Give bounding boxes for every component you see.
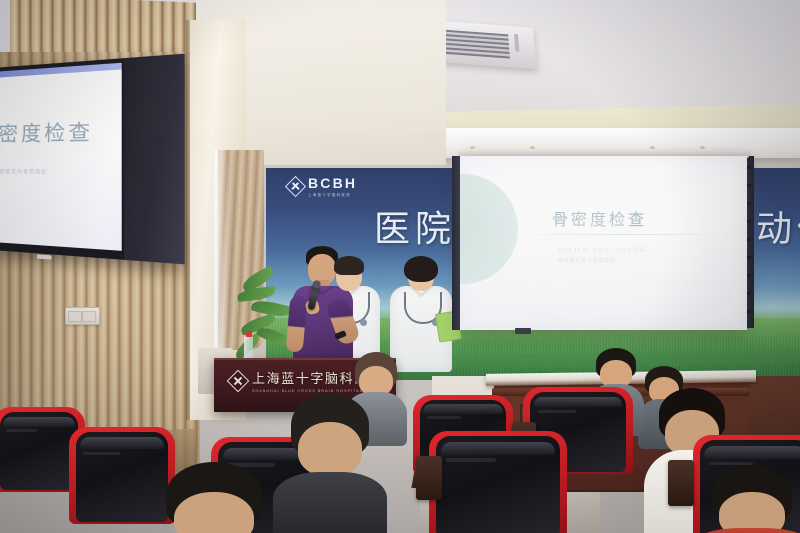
bcbh-logo: BCBH 上海蓝十字脑科医院: [288, 176, 357, 197]
projection-screen: 骨密度检查 2016.11.21 主讲人：XXXX 医师 骨密度检查与骨质疏松: [460, 156, 747, 330]
auditorium-seat[interactable]: [0, 412, 78, 490]
auditorium-seat[interactable]: [436, 436, 560, 533]
bcbh-logo-text: BCBH: [308, 176, 357, 190]
slide-subtitle-line1: 2016.11.21 主讲人：XXXX 医师: [558, 247, 645, 257]
banner-headline-left: 医院: [374, 200, 456, 252]
wall-monitor[interactable]: 骨密度检查 骨密度检查与骨质疏松: [0, 54, 185, 265]
monitor-screen: 骨密度检查 骨密度检查与骨质疏松: [0, 63, 122, 251]
seat-armrest: [416, 456, 442, 500]
monitor-slide-title: 骨密度检查: [0, 115, 93, 148]
seat-armrest: [668, 460, 694, 506]
cross-diamond-icon: [285, 176, 306, 197]
audience-person: [150, 462, 278, 533]
blue-cross-icon: [227, 369, 250, 392]
curtain-highlight: [214, 150, 228, 350]
slide-subtitle-line2: 骨密度检查与骨质疏松: [558, 257, 616, 267]
audience-person: [276, 394, 384, 533]
monitor-bezel-side: [124, 54, 185, 265]
lecture-hall-photo: 骨密度检查 骨密度检查与骨质疏松 BCBH 上海蓝十字脑科医院 医院 动仪: [0, 0, 800, 533]
slide-title: 骨密度检查: [552, 206, 647, 230]
projection-screen-weight-bar: [515, 328, 531, 334]
wall-outlet-icon[interactable]: [65, 307, 100, 325]
banner-headline-right: 动仪: [756, 200, 800, 252]
slide-decoration-circle: [460, 174, 518, 284]
audience-person: [700, 466, 800, 533]
monitor-slide-subtitle: 骨密度检查与骨质疏松: [0, 168, 47, 176]
slide-divider: [520, 234, 720, 235]
bcbh-logo-subtext: 上海蓝十字脑科医院: [308, 192, 357, 197]
monitor-glow: [0, 63, 122, 78]
